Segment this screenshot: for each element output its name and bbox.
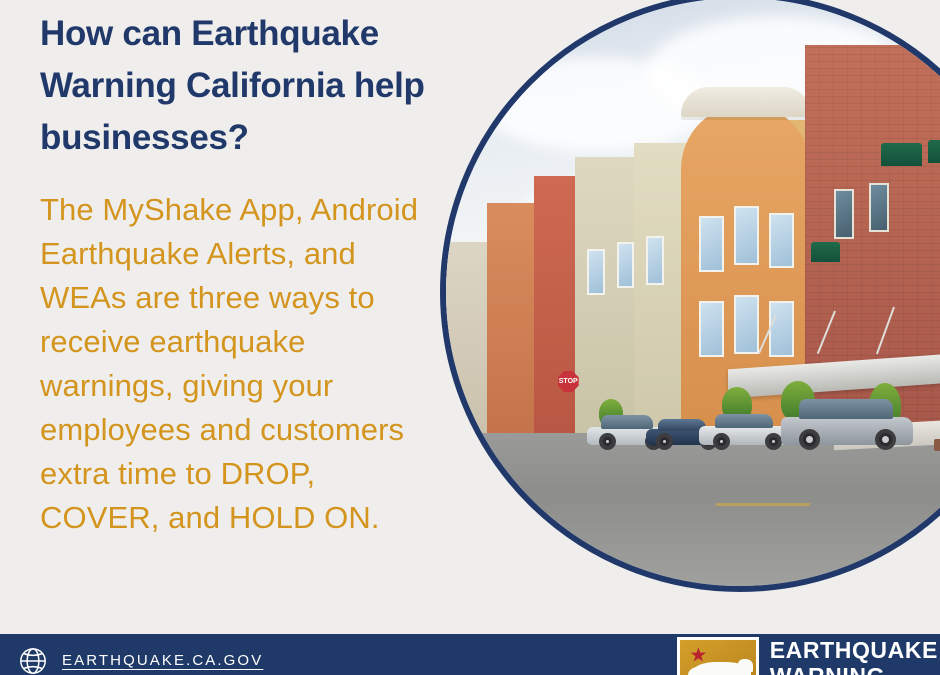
window (869, 183, 889, 232)
window (699, 301, 724, 357)
logo-line-2: WARNING (770, 663, 938, 675)
california-bear-seal-icon (677, 637, 759, 675)
building-facade (446, 242, 493, 433)
website-link[interactable]: EARTHQUAKE.CA.GOV (0, 634, 263, 675)
street-photo: STOP (446, 0, 940, 586)
building-cornice (681, 87, 810, 117)
planter (934, 439, 940, 451)
agency-logo: EARTHQUAKE WARNING (677, 637, 940, 675)
agency-logo-text: EARTHQUAKE WARNING (770, 637, 940, 675)
poster-canvas: How can Earthquake Warning California he… (0, 0, 940, 675)
body-paragraph: The MyShake App, Android Earthquake Aler… (40, 188, 440, 540)
window (646, 236, 664, 285)
building-facade (534, 176, 581, 433)
road (446, 433, 940, 586)
window (734, 206, 759, 265)
street-photo-circle: STOP (440, 0, 940, 592)
logo-line-1: EARTHQUAKE (770, 637, 938, 663)
awning (881, 143, 922, 166)
window (587, 249, 605, 295)
parked-suv (781, 399, 913, 445)
text-column: How can Earthquake Warning California he… (40, 8, 440, 540)
white-bear-icon (693, 662, 751, 675)
page-title: How can Earthquake Warning California he… (40, 8, 440, 164)
window (769, 213, 794, 269)
globe-icon (18, 646, 48, 675)
awning (928, 140, 940, 163)
building-facade (575, 157, 640, 434)
window (699, 216, 724, 272)
awning (811, 242, 840, 262)
footer-bar: EARTHQUAKE.CA.GOV EARTHQUAKE WARNING (0, 634, 940, 675)
window (617, 242, 635, 288)
window (834, 189, 854, 238)
window (769, 301, 794, 357)
red-star-icon (690, 647, 706, 663)
website-url-text: EARTHQUAKE.CA.GOV (62, 652, 263, 669)
stop-sign-icon: STOP (558, 371, 579, 392)
window (734, 295, 759, 354)
building-facade (487, 203, 540, 433)
